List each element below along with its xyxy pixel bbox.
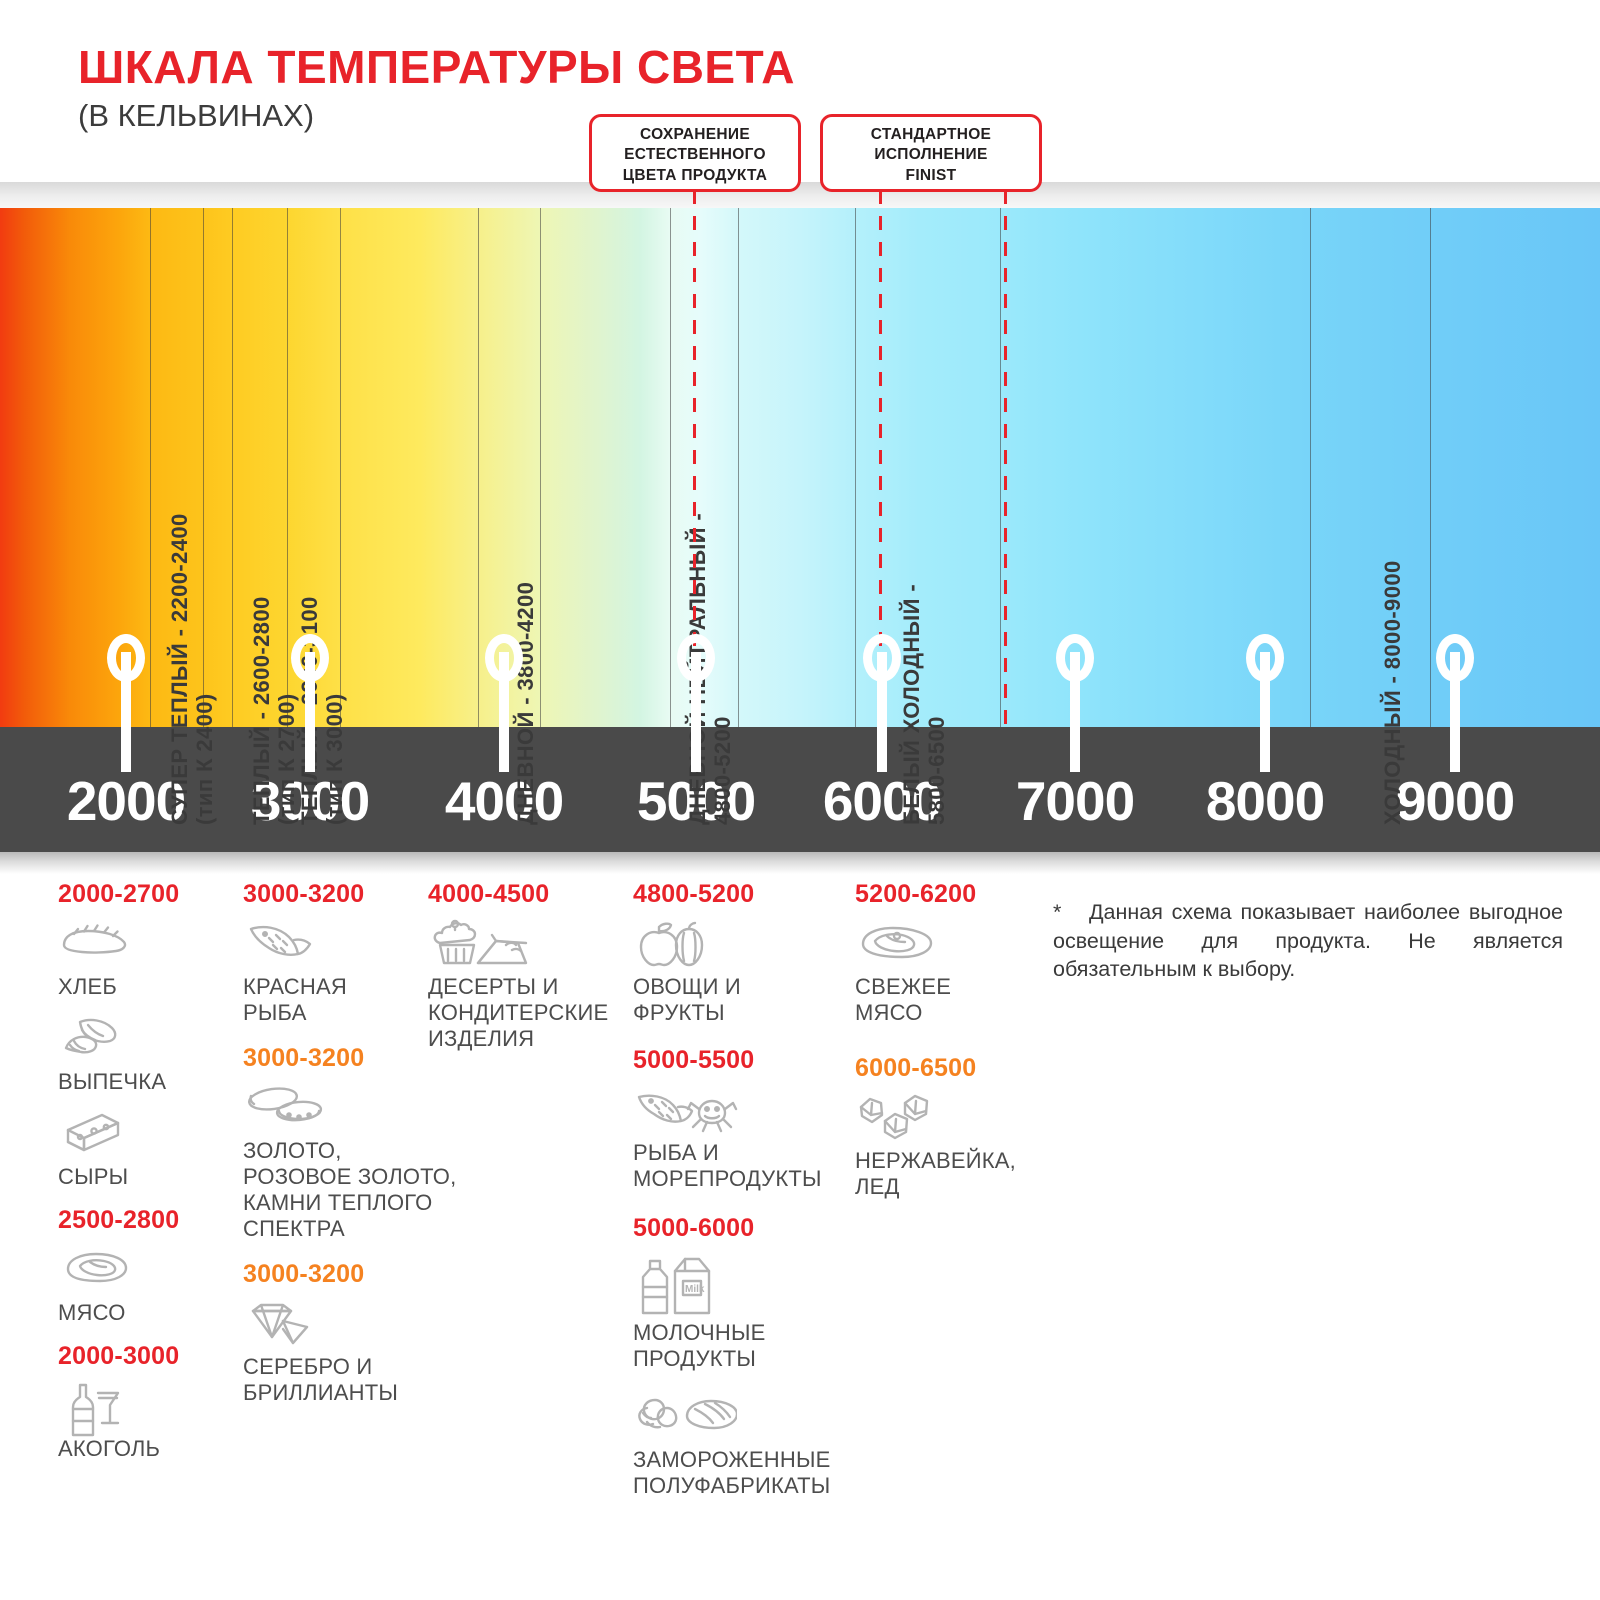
tick-stem (691, 652, 701, 772)
list-item: СЫРЫ (58, 1109, 233, 1190)
band-label-warm-2700: ТЕПЛЫЙ - 2600-2800 (249, 596, 275, 825)
band-divider (738, 208, 739, 727)
list-item: СВЕЖЕЕ МЯСО (855, 919, 1055, 1026)
band-divider (232, 208, 233, 727)
list-item-label: МОЛОЧНЫЕ ПРОДУКТЫ (633, 1320, 766, 1371)
scale-number-9000: 9000 (1396, 769, 1514, 833)
list-item-label: ХЛЕБ (58, 974, 117, 999)
band-label-warm-3000-type: (тип К 3000) (322, 693, 348, 825)
range-label: 5000-6000 (633, 1214, 853, 1243)
legend-group: 2500-2800 МЯСО (58, 1206, 233, 1326)
tick-stem (305, 652, 315, 772)
list-item: ХЛЕБ (58, 919, 233, 1000)
range-label: 2500-2800 (58, 1206, 233, 1235)
tick-marker-9000 (1440, 634, 1470, 774)
range-label: 2000-2700 (58, 880, 233, 909)
tick-marker-3000 (295, 634, 325, 774)
diamond-icon (243, 1299, 493, 1351)
tick-marker-6000 (867, 634, 897, 774)
legend-group: 5200-6200 СВЕЖЕЕ МЯСО (855, 880, 1055, 1026)
list-item: Milk МОЛОЧНЫЕ ПРОДУКТЫ (633, 1253, 853, 1372)
tick-marker-8000 (1250, 634, 1280, 774)
list-item-label: СЫРЫ (58, 1164, 128, 1189)
callout-standard-finist: СТАНДАРТНОЕИСПОЛНЕНИЕFINIST (820, 114, 1042, 192)
range-label: 4000-4500 (428, 880, 628, 909)
scale-bottom-shadow (0, 852, 1600, 874)
band-divider (855, 208, 856, 727)
alcohol-icon (58, 1381, 233, 1433)
dessert-icon (428, 919, 628, 971)
croissant-icon (58, 1014, 233, 1066)
legend-group: 2000-3000 АКОГОЛЬ (58, 1342, 233, 1462)
list-item-label: СВЕЖЕЕ МЯСО (855, 974, 951, 1025)
svg-text:Milk: Milk (685, 1284, 705, 1295)
legend-group: 5000-6000 Milk МОЛОЧНЫЕ ПРОДУКТЫ (633, 1214, 853, 1499)
list-item-label: РЫБА И МОРЕПРОДУКТЫ (633, 1140, 822, 1191)
footnote: * Данная схема показывает наиболее выгод… (1053, 898, 1563, 984)
list-item-label: ЗОЛОТО, РОЗОВОЕ ЗОЛОТО, КАМНИ ТЕПЛОГО СП… (243, 1138, 456, 1241)
list-item: ВЫПЕЧКА (58, 1014, 233, 1095)
list-item: ЗОЛОТО, РОЗОВОЕ ЗОЛОТО, КАМНИ ТЕПЛОГО СП… (243, 1083, 493, 1242)
legend-group: 2000-2700 ХЛЕБ (58, 880, 233, 1190)
band-divider (287, 208, 288, 727)
spectrum-band: СУПЕР ТЕПЛЫЙ - 2200-2400 (тип К 2400) ТЕ… (0, 182, 1600, 727)
milk-icon: Milk (633, 1253, 853, 1317)
legend-group: 5000-5500 РЫБА И МОРЕПРОДУКТ (633, 1046, 853, 1192)
band-divider (540, 208, 541, 727)
frozen-food-icon (633, 1392, 853, 1444)
tick-stem (499, 652, 509, 772)
band-label-white-cold: БЕЛЫЙ ХОЛОДНЫЙ - (899, 584, 925, 825)
scale-number-8000: 8000 (1206, 769, 1324, 833)
tick-marker-4000 (489, 634, 519, 774)
legend-group: 3000-3200 ЗОЛОТО, РОЗОВОЕ ЗОЛОТО, КАМНИ … (243, 1044, 493, 1242)
tick-stem (121, 652, 131, 772)
list-item: ОВОЩИ И ФРУКТЫ (633, 919, 853, 1026)
kelvin-scale-strip: 2000 3000 4000 5000 6000 7000 8000 9000 (0, 727, 1600, 852)
callout-standard-text: СТАНДАРТНОЕИСПОЛНЕНИЕFINIST (871, 126, 991, 184)
color-temperature-gradient: СУПЕР ТЕПЛЫЙ - 2200-2400 (тип К 2400) ТЕ… (0, 208, 1600, 727)
list-item: ЗАМОРОЖЕННЫЕ ПОЛУФАБРИКАТЫ (633, 1392, 853, 1499)
bread-icon (58, 919, 233, 971)
band-label-white-cold-range: 5800-6500 (924, 716, 950, 825)
ice-cubes-icon (855, 1093, 1055, 1145)
band-top-shadow (0, 182, 1600, 208)
legend-group: 6000-6500 НЕРЖАВЕЙКА, ЛЕД (855, 1054, 1055, 1200)
tick-stem (1260, 652, 1270, 772)
scale-number-7000: 7000 (1016, 769, 1134, 833)
list-item: РЫБА И МОРЕПРОДУКТЫ (633, 1085, 853, 1192)
list-item-label: ДЕСЕРТЫ И КОНДИТЕРСКИЕ ИЗДЕЛИЯ (428, 974, 608, 1051)
range-label: 5000-5500 (633, 1046, 853, 1075)
range-label: 4800-5200 (633, 880, 853, 909)
list-item: МЯСО (58, 1245, 233, 1326)
tick-marker-7000 (1060, 634, 1090, 774)
band-divider (340, 208, 341, 727)
legend-group: 4800-5200 ОВОЩИ И ФРУКТЫ (633, 880, 853, 1026)
legend-column-5: 5200-6200 СВЕЖЕЕ МЯСО 6000-6500 (855, 880, 1055, 1214)
band-divider (670, 208, 671, 727)
list-item-label: ВЫПЕЧКА (58, 1069, 166, 1094)
range-label: 5200-6200 (855, 880, 1055, 909)
band-label-cold: ХОЛОДНЫЙ - 8000-9000 (1380, 560, 1406, 825)
list-item-label: КРАСНАЯ РЫБА (243, 974, 347, 1025)
product-legend: 2000-2700 ХЛЕБ (0, 880, 1600, 1600)
tick-marker-5000 (681, 634, 711, 774)
band-divider (203, 208, 204, 727)
tick-stem (1070, 652, 1080, 772)
range-label: 3000-3200 (243, 1260, 493, 1289)
legend-group: 4000-4500 ДЕСЕРТЫ И КОНДИТЕРСКИЕ ИЗДЕЛИЯ (428, 880, 628, 1052)
list-item: ДЕСЕРТЫ И КОНДИТЕРСКИЕ ИЗДЕЛИЯ (428, 919, 628, 1052)
band-divider (150, 208, 151, 727)
red-guide-line-standard-end (1004, 138, 1007, 727)
band-divider (478, 208, 479, 727)
fresh-meat-icon (855, 919, 1055, 971)
callout-natural-text: СОХРАНЕНИЕЕСТЕСТВЕННОГОЦВЕТА ПРОДУКТА (623, 126, 768, 184)
page-subtitle: (В КЕЛЬВИНАХ) (78, 98, 314, 134)
callout-natural-color: СОХРАНЕНИЕЕСТЕСТВЕННОГОЦВЕТА ПРОДУКТА (589, 114, 801, 192)
list-item-label: НЕРЖАВЕЙКА, ЛЕД (855, 1148, 1016, 1199)
tick-stem (877, 652, 887, 772)
page-title: ШКАЛА ТЕМПЕРАТУРЫ СВЕТА (78, 40, 795, 94)
list-item-label: АКОГОЛЬ (58, 1436, 160, 1461)
list-item: АКОГОЛЬ (58, 1381, 233, 1462)
band-label-super-warm-type: (тип К 2400) (192, 693, 218, 825)
legend-column-4: 4800-5200 ОВОЩИ И ФРУКТЫ 5000-5500 (633, 880, 853, 1513)
footnote-text: Данная схема показывает наиболее выгодно… (1053, 900, 1563, 981)
list-item: СЕРЕБРО И БРИЛЛИАНТЫ (243, 1299, 493, 1406)
range-label: 6000-6500 (855, 1054, 1055, 1083)
legend-column-3: 4000-4500 ДЕСЕРТЫ И КОНДИТЕРСКИЕ ИЗДЕЛИЯ (428, 880, 628, 1066)
band-divider (1310, 208, 1311, 727)
seafood-icon (633, 1085, 853, 1137)
band-label-daylight-neutral-range: 4800-5200 (710, 716, 736, 825)
band-divider (1430, 208, 1431, 727)
list-item-label: ОВОЩИ И ФРУКТЫ (633, 974, 741, 1025)
legend-group: 3000-3200 СЕРЕБРО И БРИЛЛИАНТЫ (243, 1260, 493, 1406)
list-item-label: ЗАМОРОЖЕННЫЕ ПОЛУФАБРИКАТЫ (633, 1447, 831, 1498)
range-label: 2000-3000 (58, 1342, 233, 1371)
band-divider (1000, 208, 1001, 727)
legend-column-1: 2000-2700 ХЛЕБ (58, 880, 233, 1476)
fruit-vegetable-icon (633, 919, 853, 971)
band-label-super-warm: СУПЕР ТЕПЛЫЙ - 2200-2400 (167, 513, 193, 825)
cheese-icon (58, 1109, 233, 1161)
steak-icon (58, 1245, 233, 1297)
tick-marker-2000 (111, 634, 141, 774)
tick-stem (1450, 652, 1460, 772)
scale-number-4000: 4000 (445, 769, 563, 833)
footnote-asterisk: * (1053, 898, 1061, 927)
rings-icon (243, 1083, 493, 1135)
list-item: НЕРЖАВЕЙКА, ЛЕД (855, 1093, 1055, 1200)
list-item-label: МЯСО (58, 1300, 126, 1325)
list-item-label: СЕРЕБРО И БРИЛЛИАНТЫ (243, 1354, 398, 1405)
